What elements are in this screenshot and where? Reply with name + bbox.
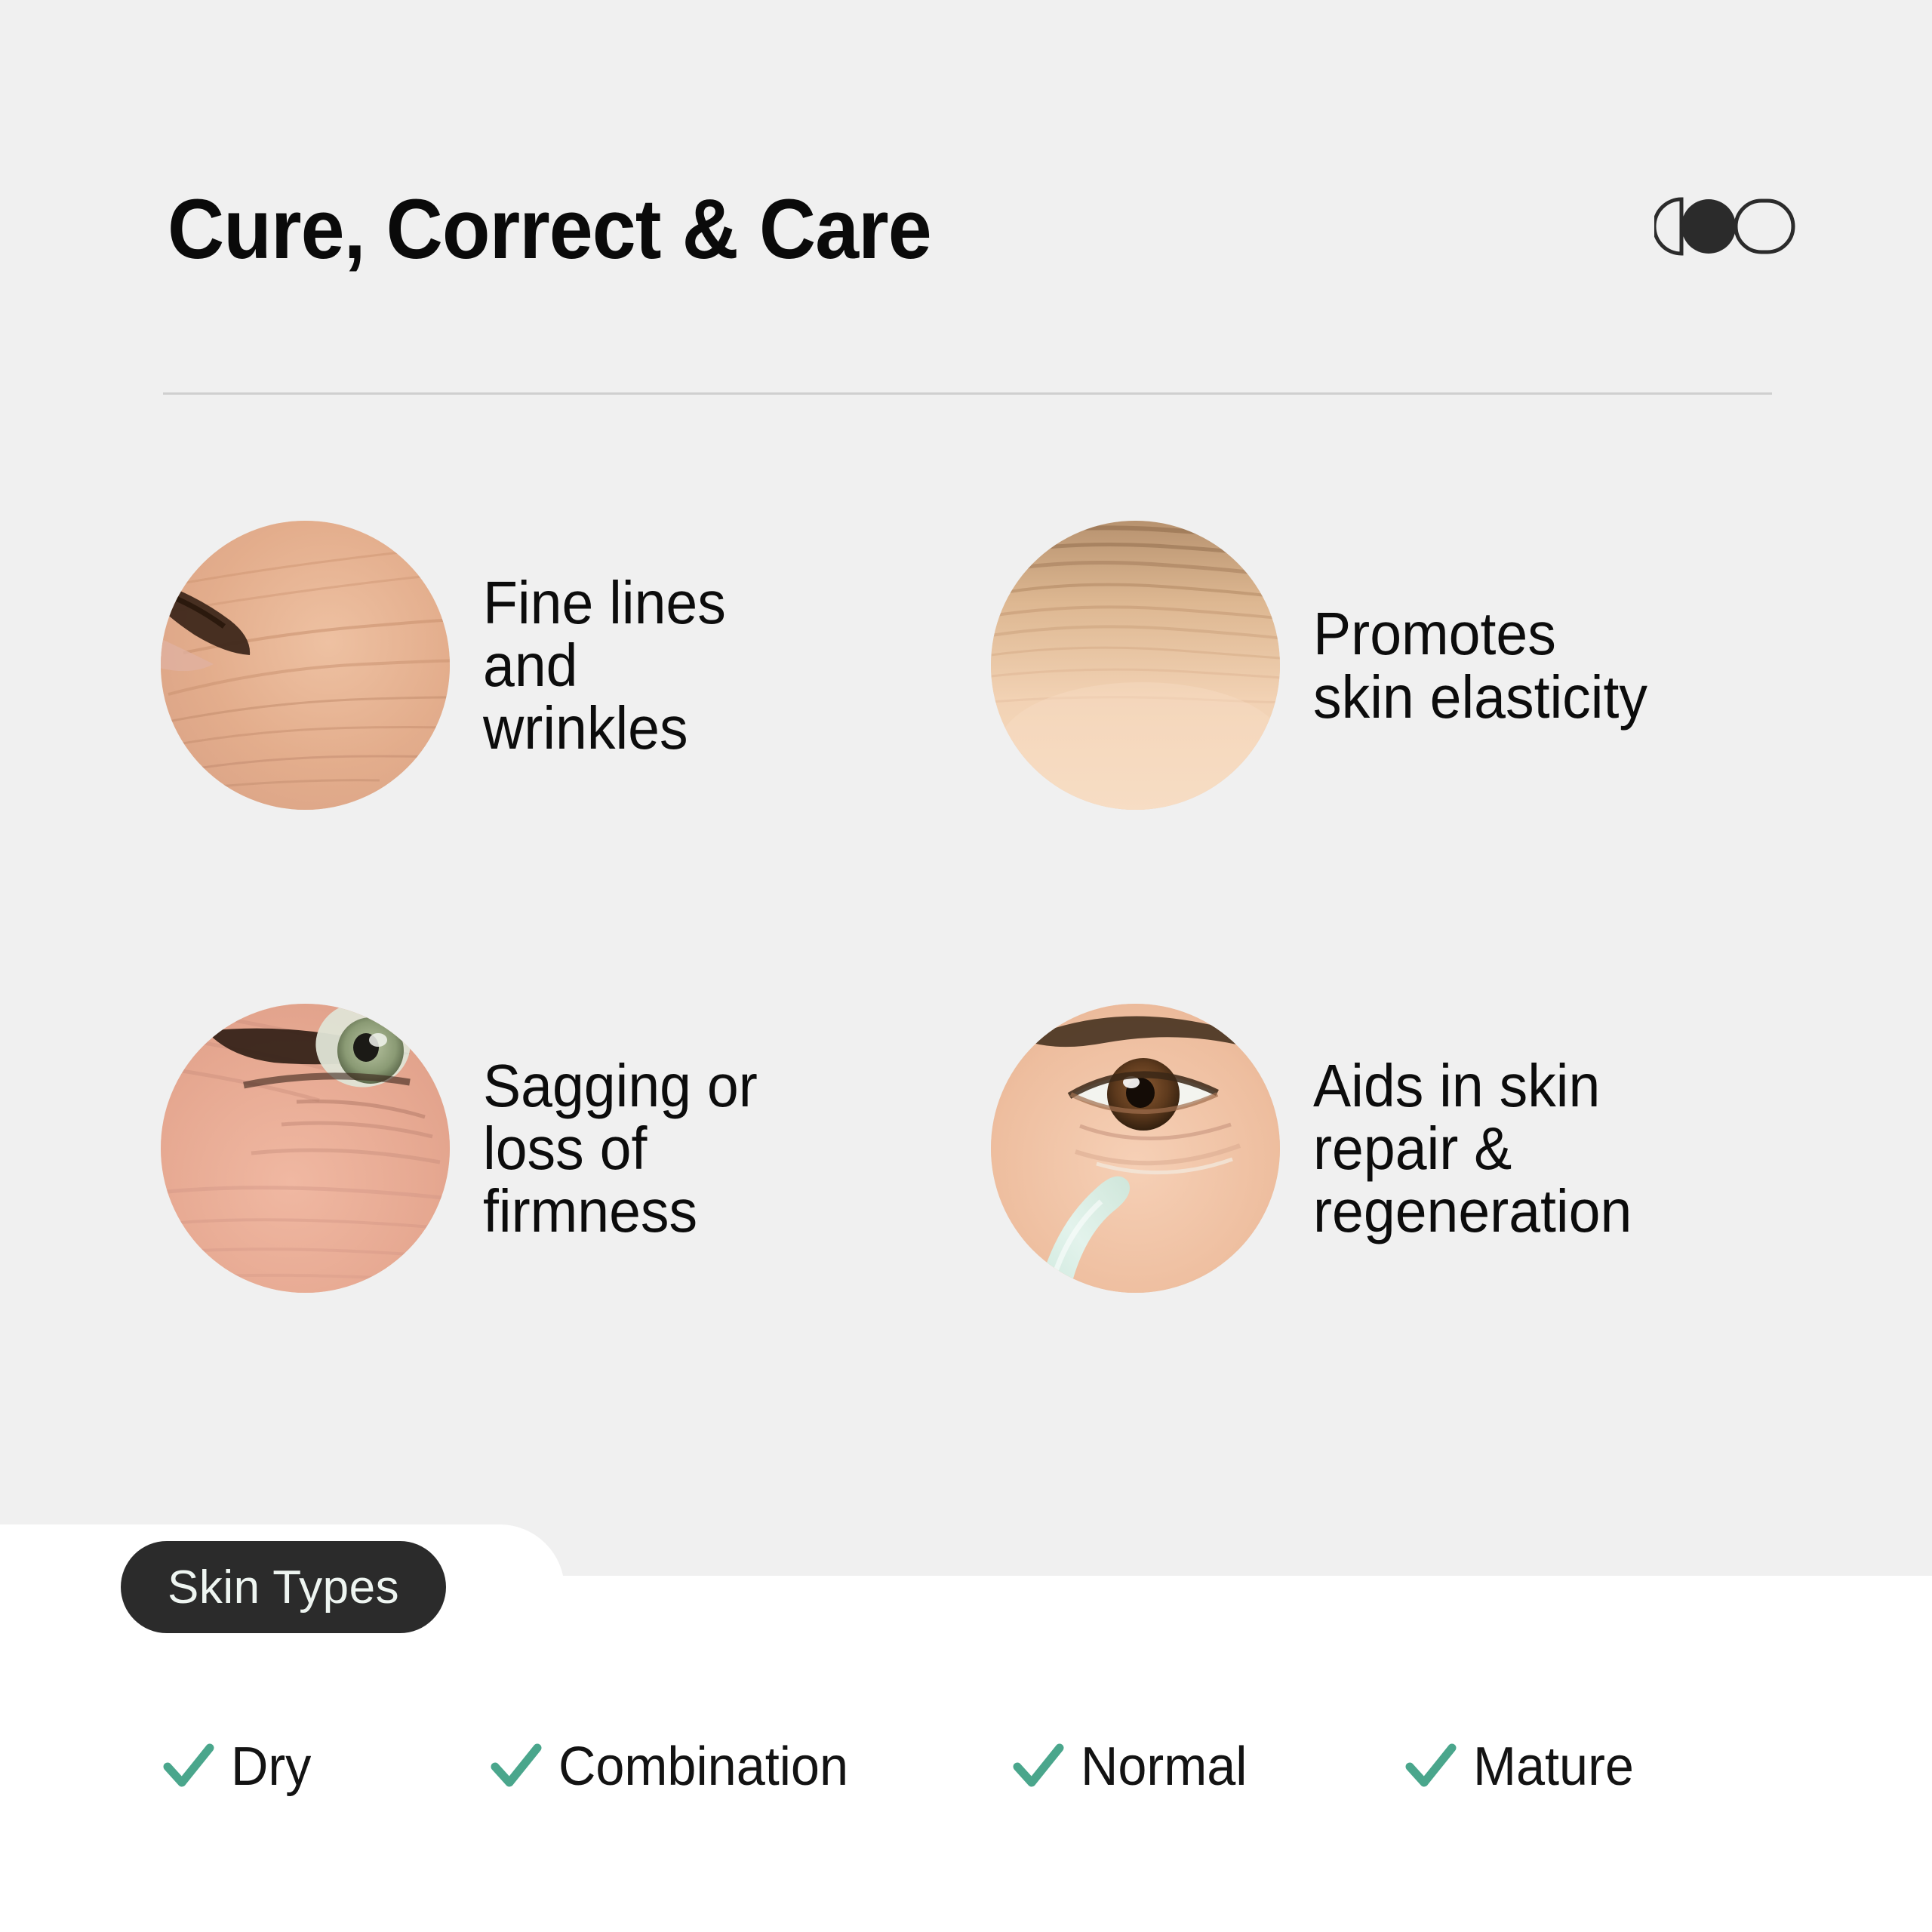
feature-thumbnail-sagging [161, 1004, 450, 1293]
product-infographic: Cure, Correct & Care [0, 0, 1932, 1932]
feature-label: Promotes skin elasticity [1313, 602, 1753, 728]
feature-item-fine-lines-and-wrinkles: Fine lines and wrinkles [161, 521, 838, 810]
skin-type-item-dry[interactable]: Dry [162, 1736, 315, 1798]
header-divider [163, 392, 1772, 395]
feature-label: Aids in skin repair & regeneration [1313, 1054, 1753, 1243]
feature-thumbnail-repair [991, 1004, 1280, 1293]
skin-types-badge-label: Skin Types [168, 1561, 399, 1614]
header: Cure, Correct & Care [0, 0, 1932, 423]
check-icon [1404, 1740, 1458, 1794]
brand-logo-icon [1654, 195, 1798, 258]
skin-type-item-mature[interactable]: Mature [1404, 1736, 1642, 1798]
feature-label: Fine lines and wrinkles [483, 571, 817, 760]
skin-type-label: Dry [231, 1736, 311, 1798]
skin-type-item-combination[interactable]: Combination [489, 1736, 863, 1798]
features-grid: Fine lines and wrinkles [0, 521, 1932, 1366]
skin-types-badge[interactable]: Skin Types [121, 1541, 446, 1633]
skin-type-item-normal[interactable]: Normal [1011, 1736, 1256, 1798]
check-icon [1011, 1740, 1066, 1794]
feature-thumbnail-elasticity [991, 521, 1280, 810]
skin-types-list: Dry Combination Normal Mature [0, 1736, 1932, 1864]
feature-item-promotes-skin-elasticity: Promotes skin elasticity [991, 521, 1781, 810]
skin-type-label: Normal [1081, 1736, 1247, 1798]
feature-item-sagging-or-loss-of-firmness: Sagging or loss of firmness [161, 1004, 838, 1293]
check-icon [162, 1740, 216, 1794]
feature-label: Sagging or loss of firmness [483, 1054, 817, 1243]
feature-thumbnail-fine-lines [161, 521, 450, 810]
feature-item-aids-in-skin-repair-regeneration: Aids in skin repair & regeneration [991, 1004, 1781, 1293]
page-title: Cure, Correct & Care [168, 187, 931, 272]
check-icon [489, 1740, 543, 1794]
skin-type-label: Mature [1473, 1736, 1634, 1798]
skin-type-label: Combination [558, 1736, 848, 1798]
